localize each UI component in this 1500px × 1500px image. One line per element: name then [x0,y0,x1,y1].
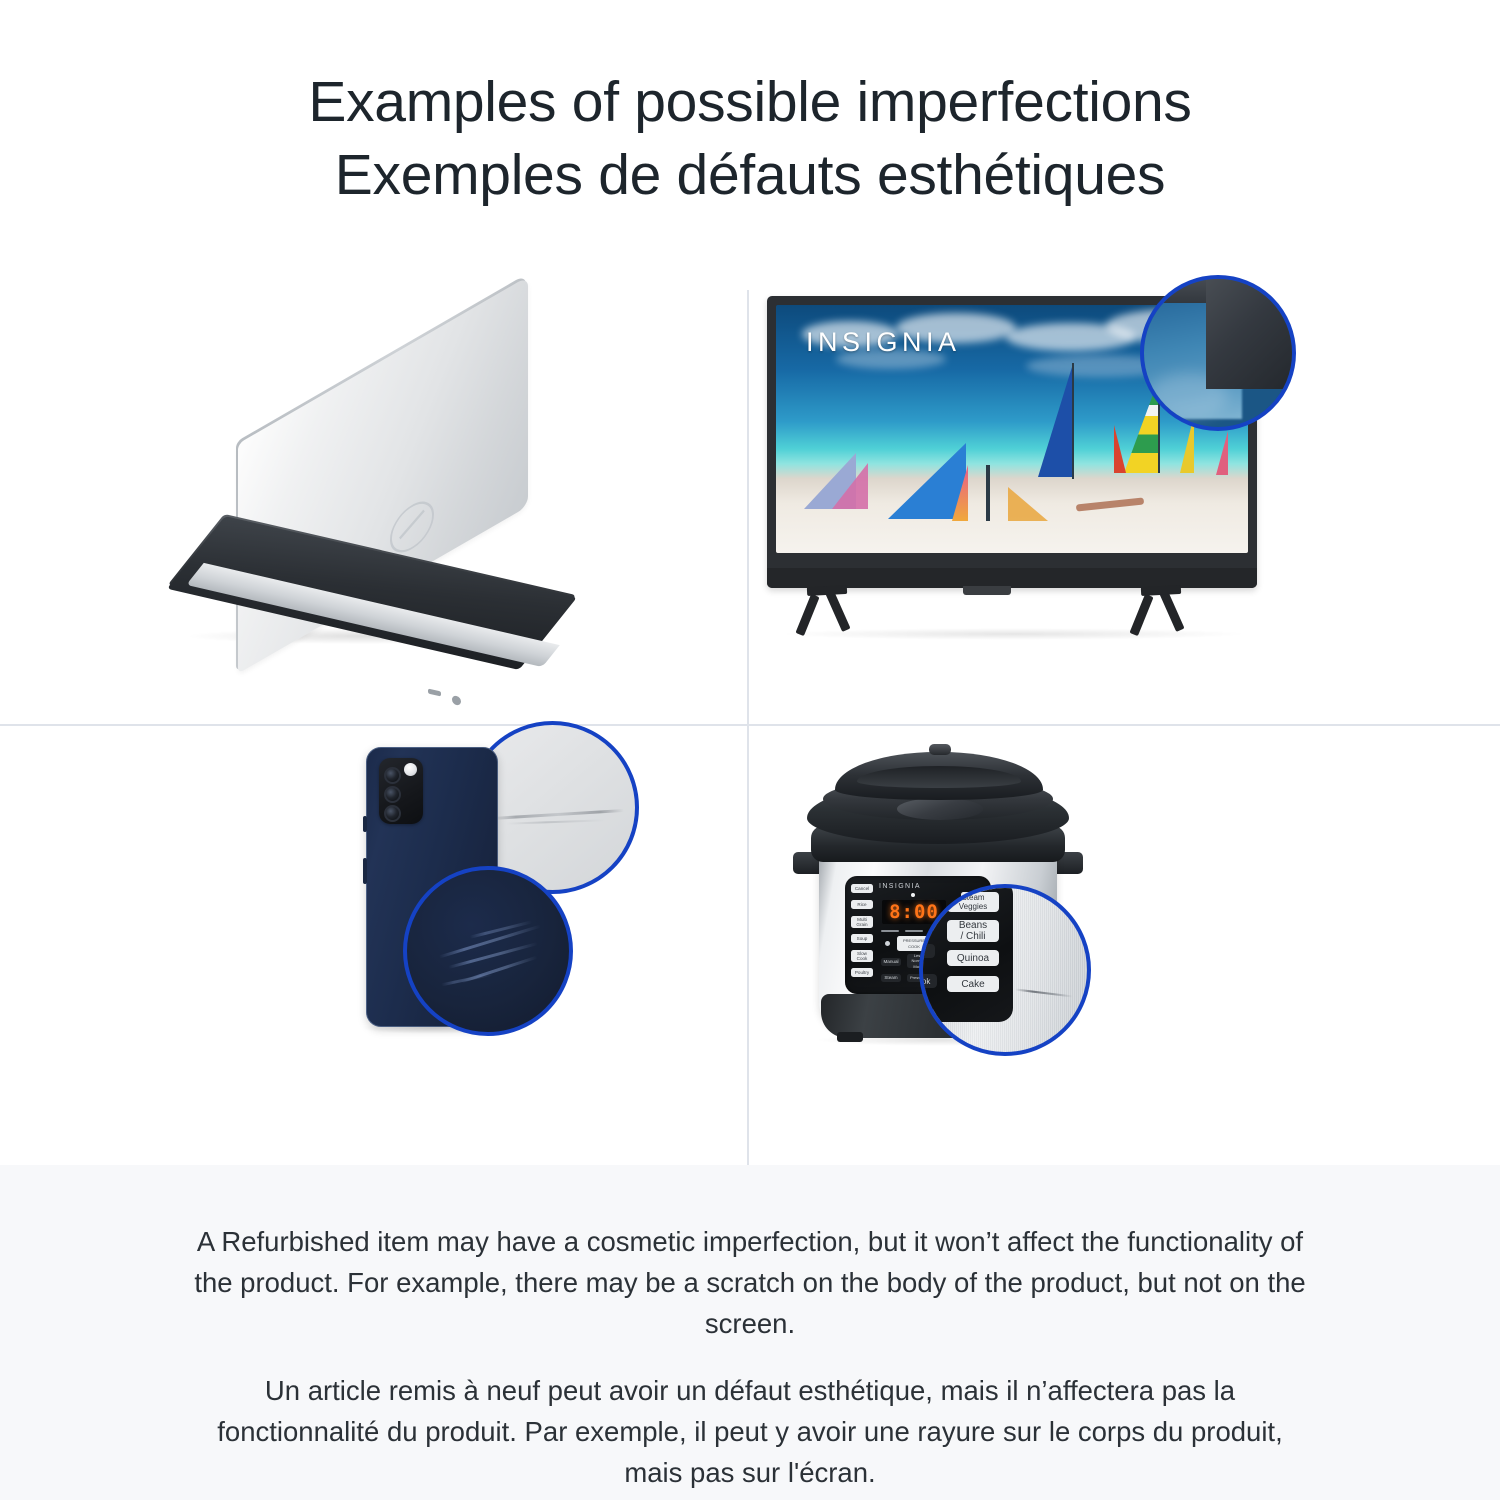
cooker-button-manual[interactable]: Manual [881,958,901,966]
camera-lens-icon [384,805,401,822]
example-cell-pressure-cooker: INSIGNIA 8:00 PRESSURECOOK Cancel Rice M… [749,726,1500,1165]
footer-paragraph-en: A Refurbished item may have a cosmetic i… [185,1221,1315,1344]
cooker-foot [837,1032,863,1042]
pressure-cooker-illustration: INSIGNIA 8:00 PRESSURECOOK Cancel Rice M… [749,726,1500,1165]
cooker-button-rice[interactable]: Rice [851,900,873,909]
cooker-button-poultry[interactable]: Poultry [851,968,873,977]
page-title-en: Examples of possible imperfections [308,66,1191,139]
cooker-lid-panel [897,798,983,820]
tv-center-badge [963,586,1011,595]
sailboat-sail [1038,367,1072,477]
magnifier-phone-scratches [403,866,573,1036]
tv-leg-right [1137,588,1213,632]
bezel-corner [1206,275,1296,389]
footer-paragraph-fr: Un article remis à neuf peut avoir un dé… [185,1370,1315,1493]
sail-mast [1072,363,1074,479]
tv-brand-logo: INSIGNIA [806,327,961,358]
example-cell-laptop [0,250,747,724]
example-cell-television: INSIGNIA [749,250,1500,724]
magnified-button-slowcook[interactable]: w Cook [919,974,937,988]
sailboat-sail [1114,425,1126,473]
beached-sail [1008,487,1048,521]
magnifier-cooker-scratch: SteamVeggies Beans/ Chili Quinoa Cake la… [919,884,1091,1056]
power-button[interactable] [363,858,367,884]
cooker-button-steam[interactable]: Steam [881,974,901,982]
camera-flash-icon [404,763,417,776]
scratch-mark [441,973,492,987]
scratch-mark [448,942,538,969]
examples-grid: INSIGNIA [0,250,1500,1165]
magnifier-tv-bezel [1140,275,1296,431]
sailboat-sail [1216,431,1228,475]
magnified-button-delay[interactable]: lay [919,944,935,958]
beached-sail [888,443,966,519]
page-title-fr: Exemples de défauts esthétiques [335,139,1165,212]
cooker-button-cancel[interactable]: Cancel [851,884,873,893]
cooker-button-slowcook[interactable]: SlowCook [851,950,873,962]
tv-leg-left [803,588,879,632]
laptop-illustration [0,250,747,724]
cooker-button-soup[interactable]: Soup [851,934,873,943]
camera-lens-icon [384,767,401,784]
smartphone-illustration [0,726,747,1165]
cooker-button-multigrain[interactable]: MultiGrain [851,916,873,928]
magnified-button-cake[interactable]: Cake [947,976,999,992]
beached-sail [832,463,868,509]
pressure-valve-icon [929,744,951,755]
cooker-brand-logo: INSIGNIA [879,883,921,890]
beached-hull [1076,497,1144,511]
footer-description: A Refurbished item may have a cosmetic i… [0,1165,1500,1500]
status-indicator [911,893,915,897]
usb-c-port-icon [428,688,441,696]
television-illustration: INSIGNIA [749,250,1500,724]
beach-pole [986,465,990,521]
magnified-button-quinoa[interactable]: Quinoa [947,950,999,966]
refurbished-imperfections-infographic: Examples of possible imperfections Exemp… [0,0,1500,1500]
camera-lens-icon [384,786,401,803]
magnified-button-beanschili[interactable]: Beans/ Chili [947,920,999,942]
example-cell-smartphone [0,726,747,1165]
headphone-jack-icon [452,695,461,706]
header: Examples of possible imperfections Exemp… [0,0,1500,250]
volume-button[interactable] [363,816,367,832]
magnified-button-steamveggies[interactable]: SteamVeggies [947,892,999,912]
